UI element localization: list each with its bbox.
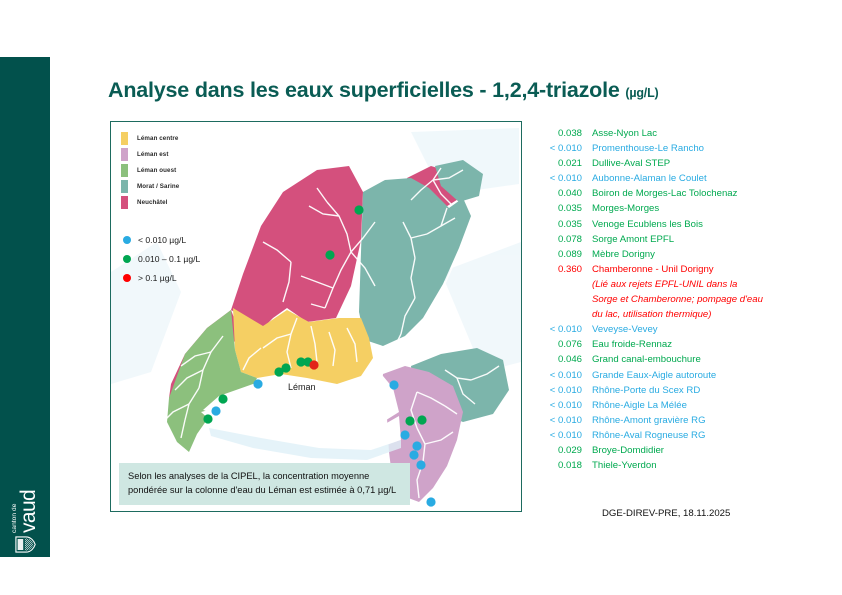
map-sample-point <box>253 379 262 388</box>
brand-sidebar: canton de vaud <box>0 57 50 557</box>
measurement-row: < 0.010Rhône-Amont gravière RG <box>530 415 830 430</box>
map-sample-point <box>417 415 426 424</box>
measurement-row: 0.046Grand canal-embouchure <box>530 354 830 369</box>
measurement-site-name: Mèbre Dorigny <box>592 249 655 260</box>
map-sample-point <box>203 414 212 423</box>
measurement-note-line: (Lié aux rejets EPFL-UNIL dans la <box>530 279 830 294</box>
map-sample-point <box>409 450 418 459</box>
measurement-site-name: Veveyse-Vevey <box>592 324 658 335</box>
measurement-site-name: Rhône-Porte du Scex RD <box>592 385 700 396</box>
lake-label: Léman <box>288 382 316 392</box>
map-sample-point <box>405 416 414 425</box>
legend-item: Léman centre <box>121 130 179 146</box>
logo-vaud-text: vaud <box>20 490 38 533</box>
map-point-legend: < 0.010 µg/L 0.010 – 0.1 µg/L > 0.1 µg/L <box>123 230 200 287</box>
measurement-site-name: Aubonne-Alaman le Coulet <box>592 173 707 184</box>
measurement-site-name: Rhône-Aigle La Mélée <box>592 400 687 411</box>
legend-label: Léman est <box>137 151 169 158</box>
measurement-row: 0.021Dullive-Aval STEP <box>530 158 830 173</box>
measurement-value: 0.040 <box>530 188 592 199</box>
measurement-row: < 0.010Veveyse-Vevey <box>530 324 830 339</box>
measurement-site-name: Eau froide-Rennaz <box>592 339 672 350</box>
map-sample-point <box>211 406 220 415</box>
measurement-value: < 0.010 <box>530 143 592 154</box>
legend-swatch-leman-centre <box>121 132 128 145</box>
measurement-value: < 0.010 <box>530 415 592 426</box>
legend-label: Léman centre <box>137 135 178 142</box>
measurement-site-name: Dullive-Aval STEP <box>592 158 670 169</box>
map-sample-point <box>325 250 334 259</box>
vaud-shield-icon <box>15 536 36 553</box>
measurement-value: 0.029 <box>530 445 592 456</box>
legend-item: Léman est <box>121 146 179 162</box>
measurement-site-name: Sorge Amont EPFL <box>592 234 674 245</box>
measurement-site-name: Chamberonne - Unil Dorigny <box>592 264 714 275</box>
point-legend-label: > 0.1 µg/L <box>138 273 177 283</box>
measurement-site-name: Grand canal-embouchure <box>592 354 701 365</box>
measurement-row: 0.035Venoge Ecublens les Bois <box>530 219 830 234</box>
point-legend-dot-low <box>123 236 131 244</box>
legend-swatch-leman-est <box>121 148 128 161</box>
measurement-row: < 0.010Rhône-Aigle La Mélée <box>530 400 830 415</box>
map-panel: Léman centre Léman est Léman ouest Morat… <box>110 121 522 512</box>
measurement-row: 0.076Eau froide-Rennaz <box>530 339 830 354</box>
measurement-value: 0.076 <box>530 339 592 350</box>
measurement-value: 0.089 <box>530 249 592 260</box>
map-area-legend: Léman centre Léman est Léman ouest Morat… <box>121 130 179 210</box>
measurement-note-text: Sorge et Chamberonne; pompage d'eau <box>592 294 763 309</box>
measurement-value: < 0.010 <box>530 400 592 411</box>
measurement-row: 0.360Chamberonne - Unil Dorigny <box>530 264 830 279</box>
vaud-logo: canton de vaud <box>0 431 50 551</box>
measurement-value: < 0.010 <box>530 324 592 335</box>
page-title-unit: (µg/L) <box>625 86 658 100</box>
map-sample-point <box>296 357 305 366</box>
slide-root: canton de vaud Analyse dans les eaux sup… <box>0 0 842 595</box>
point-legend-dot-mid <box>123 255 131 263</box>
measurement-value: < 0.010 <box>530 370 592 381</box>
measurement-note-line: Sorge et Chamberonne; pompage d'eau <box>530 294 830 309</box>
legend-label: Morat / Sarine <box>137 183 179 190</box>
measurement-row: < 0.010Rhône-Porte du Scex RD <box>530 385 830 400</box>
map-sample-point <box>274 367 283 376</box>
map-sample-point <box>412 441 421 450</box>
map-sample-point <box>426 497 435 506</box>
point-legend-item: 0.010 – 0.1 µg/L <box>123 249 200 268</box>
legend-label: Léman ouest <box>137 167 176 174</box>
map-sample-point <box>309 360 318 369</box>
measurement-value: 0.021 <box>530 158 592 169</box>
measurement-row: < 0.010Grande Eaux-Aigle autoroute <box>530 370 830 385</box>
point-legend-dot-high <box>123 274 131 282</box>
measurement-site-name: Rhône-Amont gravière RG <box>592 415 706 426</box>
legend-item: Neuchâtel <box>121 194 179 210</box>
map-caption: Selon les analyses de la CIPEL, la conce… <box>119 463 410 505</box>
measurement-value: 0.078 <box>530 234 592 245</box>
measurement-value: < 0.010 <box>530 385 592 396</box>
measurement-value: 0.046 <box>530 354 592 365</box>
measurement-row: < 0.010Rhône-Aval Rogneuse RG <box>530 430 830 445</box>
map-sample-point <box>400 430 409 439</box>
measurement-site-name: Asse-Nyon Lac <box>592 128 657 139</box>
measurement-site-name: Boiron de Morges-Lac Tolochenaz <box>592 188 737 199</box>
measurement-site-name: Venoge Ecublens les Bois <box>592 219 703 230</box>
measurement-note-text: (Lié aux rejets EPFL-UNIL dans la <box>592 279 737 294</box>
measurement-value: 0.038 <box>530 128 592 139</box>
point-legend-item: < 0.010 µg/L <box>123 230 200 249</box>
measurement-site-name: Rhône-Aval Rogneuse RG <box>592 430 705 441</box>
measurement-value: 0.035 <box>530 203 592 214</box>
legend-swatch-neuchatel <box>121 196 128 209</box>
map-sample-point <box>416 460 425 469</box>
legend-swatch-morat-sarine <box>121 180 128 193</box>
legend-label: Neuchâtel <box>137 199 167 206</box>
measurement-list: 0.038Asse-Nyon Lac< 0.010Promenthouse-Le… <box>530 128 830 475</box>
measurement-site-name: Promenthouse-Le Rancho <box>592 143 704 154</box>
measurement-site-name: Morges-Morges <box>592 203 659 214</box>
legend-swatch-leman-ouest <box>121 164 128 177</box>
measurement-value: < 0.010 <box>530 173 592 184</box>
page-title-main: Analyse dans les eaux superficielles - 1… <box>108 78 620 102</box>
measurement-value: 0.018 <box>530 460 592 471</box>
footer-credit: DGE-DIREV-PRE, 18.11.2025 <box>602 508 730 519</box>
measurement-row: 0.018Thiele-Yverdon <box>530 460 830 475</box>
measurement-value: < 0.010 <box>530 430 592 441</box>
map-sample-point <box>389 380 398 389</box>
page-title: Analyse dans les eaux superficielles - 1… <box>108 78 658 103</box>
measurement-row: 0.040Boiron de Morges-Lac Tolochenaz <box>530 188 830 203</box>
measurement-row: < 0.010Aubonne-Alaman le Coulet <box>530 173 830 188</box>
point-legend-label: 0.010 – 0.1 µg/L <box>138 254 200 264</box>
measurement-note-line: du lac, utilisation thermique) <box>530 309 830 324</box>
map-sample-point <box>218 394 227 403</box>
measurement-site-name: Grande Eaux-Aigle autoroute <box>592 370 716 381</box>
legend-item: Léman ouest <box>121 162 179 178</box>
measurement-row: 0.078Sorge Amont EPFL <box>530 234 830 249</box>
measurement-row: < 0.010Promenthouse-Le Rancho <box>530 143 830 158</box>
map-sample-point <box>354 205 363 214</box>
measurement-row: 0.089Mèbre Dorigny <box>530 249 830 264</box>
measurement-row: 0.029Broye-Domdidier <box>530 445 830 460</box>
measurement-row: 0.035Morges-Morges <box>530 203 830 218</box>
legend-item: Morat / Sarine <box>121 178 179 194</box>
measurement-value: 0.360 <box>530 264 592 275</box>
point-legend-item: > 0.1 µg/L <box>123 268 200 287</box>
point-legend-label: < 0.010 µg/L <box>138 235 186 245</box>
measurement-note-text: du lac, utilisation thermique) <box>592 309 711 324</box>
measurement-site-name: Thiele-Yverdon <box>592 460 657 471</box>
measurement-site-name: Broye-Domdidier <box>592 445 664 456</box>
measurement-value: 0.035 <box>530 219 592 230</box>
measurement-row: 0.038Asse-Nyon Lac <box>530 128 830 143</box>
